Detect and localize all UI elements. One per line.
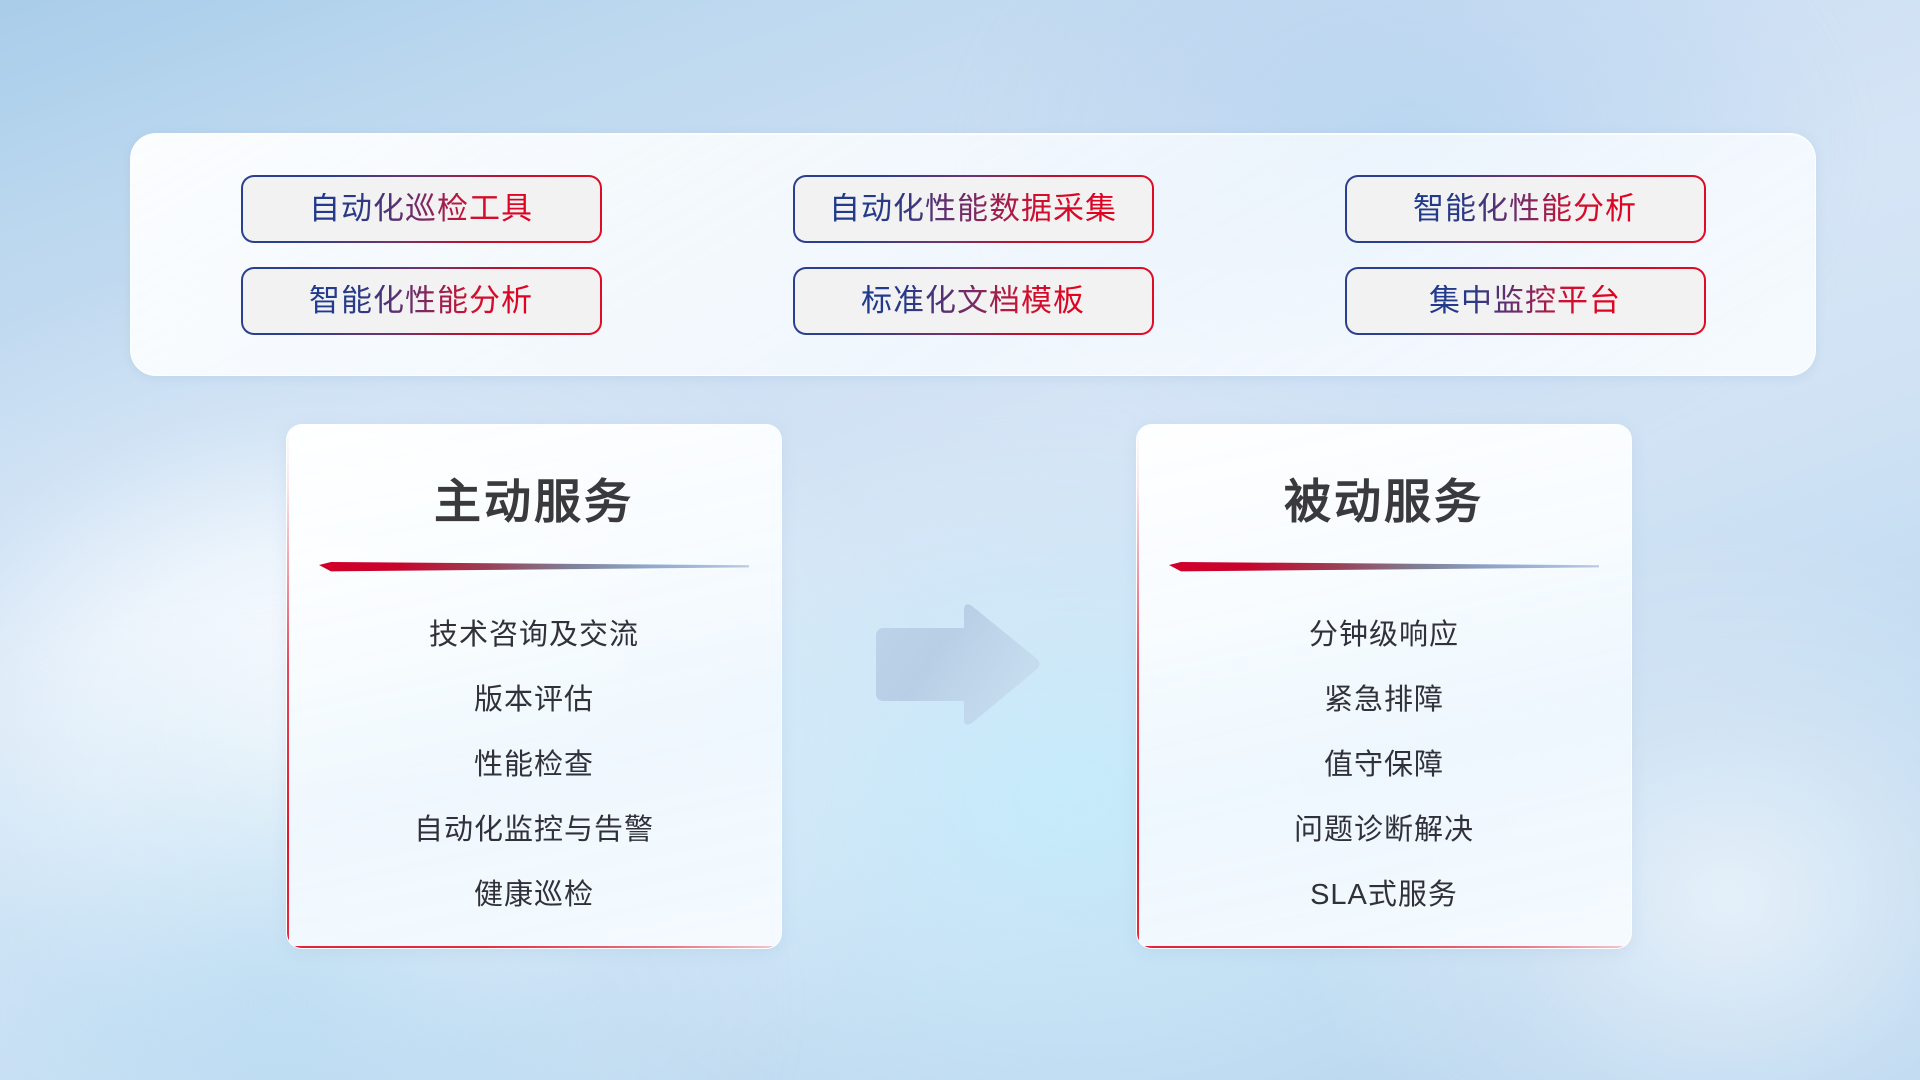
service-card-divider (1169, 562, 1599, 573)
capability-pill-centralized-monitoring-platform[interactable]: 集中监控平台 (1347, 269, 1704, 333)
list-item[interactable]: 紧急排障 (1324, 668, 1444, 733)
list-item[interactable]: 自动化监控与告警 (414, 798, 654, 863)
capability-pill-label: 标准化文档模板 (861, 285, 1085, 316)
list-item[interactable]: 值守保障 (1324, 733, 1444, 798)
capability-pill-label: 自动化性能数据采集 (829, 193, 1117, 224)
capability-row-2: 智能化性能分析 标准化文档模板 集中监控平台 (131, 269, 1815, 333)
capability-pill-label: 智能化性能分析 (1413, 193, 1637, 224)
capability-row-1: 自动化巡检工具 自动化性能数据采集 智能化性能分析 (131, 177, 1815, 241)
list-item[interactable]: 性能检查 (474, 733, 594, 798)
list-item[interactable]: 版本评估 (474, 668, 594, 733)
capability-pill-label: 集中监控平台 (1429, 285, 1621, 316)
service-card-item-list: 技术咨询及交流 版本评估 性能检查 自动化监控与告警 健康巡检 (287, 603, 781, 928)
list-item[interactable]: 技术咨询及交流 (429, 603, 639, 668)
capability-pill-automation-inspection-tool[interactable]: 自动化巡检工具 (243, 177, 600, 241)
capability-pill-automation-performance-data-collection[interactable]: 自动化性能数据采集 (795, 177, 1152, 241)
list-item[interactable]: 健康巡检 (474, 863, 594, 928)
capability-pill-label: 智能化性能分析 (309, 285, 533, 316)
list-item[interactable]: 问题诊断解决 (1294, 798, 1474, 863)
service-card-item-list: 分钟级响应 紧急排障 值守保障 问题诊断解决 SLA式服务 (1137, 603, 1631, 928)
service-card-title: 被动服务 (1137, 463, 1631, 532)
capability-pill-standardized-document-template[interactable]: 标准化文档模板 (795, 269, 1152, 333)
service-card-title: 主动服务 (287, 463, 781, 532)
list-item[interactable]: SLA式服务 (1310, 863, 1458, 928)
capability-panel: 自动化巡检工具 自动化性能数据采集 智能化性能分析 智能化性能分析 标准化文档模… (130, 133, 1816, 376)
capability-pill-intelligent-performance-analysis[interactable]: 智能化性能分析 (1347, 177, 1704, 241)
service-card-reactive: 被动服务 分钟级响应 紧急排障 值守保障 问题诊断解决 SLA式服务 (1136, 424, 1632, 949)
list-item[interactable]: 分钟级响应 (1309, 603, 1459, 668)
arrow-right-icon (868, 600, 1044, 730)
service-card-divider (319, 562, 749, 573)
service-card-proactive: 主动服务 技术咨询及交流 版本评估 性能检查 自动化监控与告警 健康巡检 (286, 424, 782, 949)
capability-pill-intelligent-performance-analysis-2[interactable]: 智能化性能分析 (243, 269, 600, 333)
capability-pill-label: 自动化巡检工具 (309, 193, 533, 224)
